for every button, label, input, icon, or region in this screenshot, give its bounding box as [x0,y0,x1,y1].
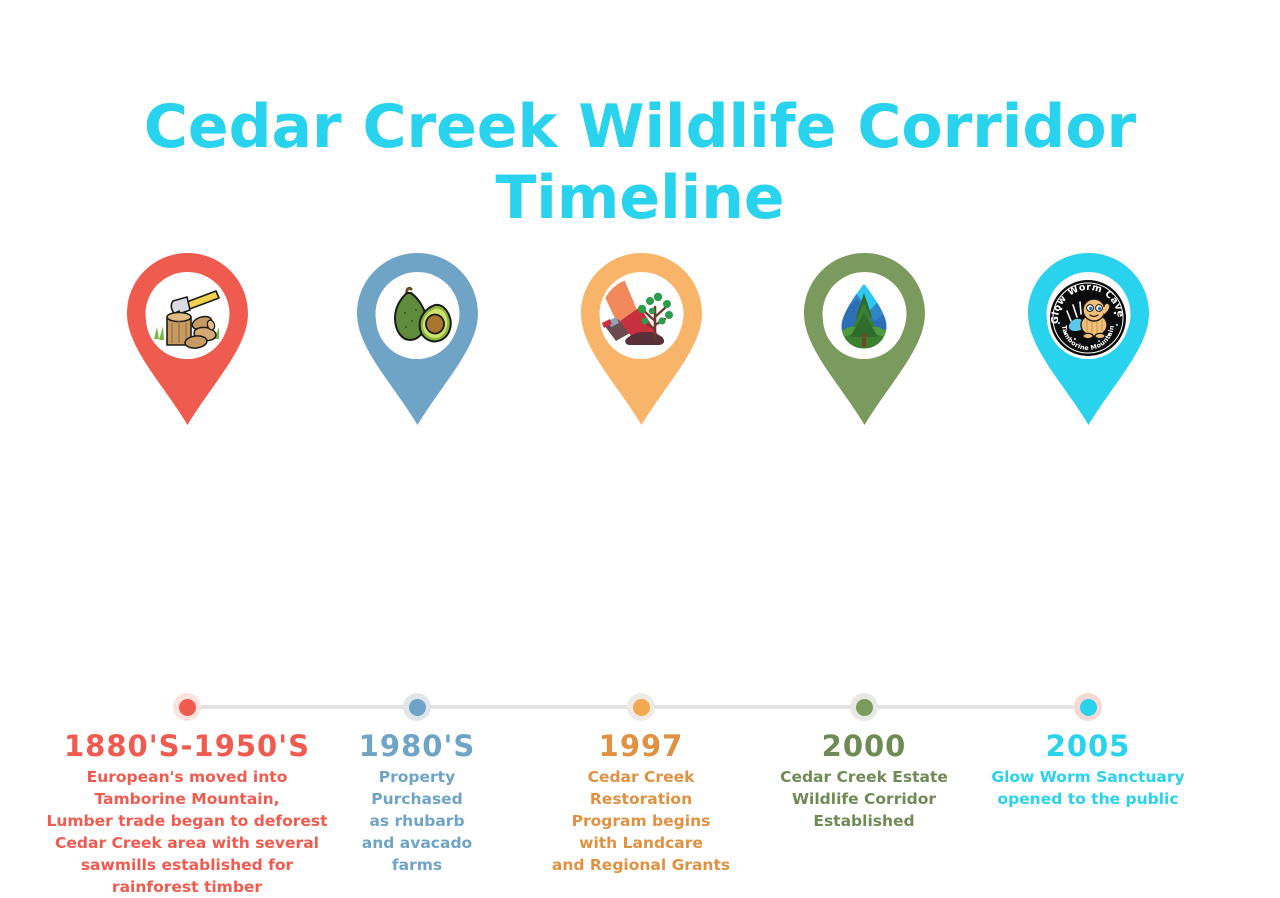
timeline-year-5: 2005 [928,728,1248,764]
timeline-dot-4[interactable] [850,693,878,721]
timeline-stop-1[interactable]: 1880'S-1950'S European's moved into Tamb… [77,250,297,428]
hands-planting-sapling-icon [600,277,682,359]
timeline-dot-5[interactable] [1074,693,1102,721]
glow-worm-caves-logo-icon: Glow Worm Caves Tamborine Mountain [1047,277,1129,359]
timeline-dot-1[interactable] [173,693,201,721]
avocado-icon [376,277,458,359]
axe-in-tree-stump-icon [146,277,228,359]
map-pin-5[interactable]: Glow Worm Caves Tamborine Mountain [1016,250,1161,428]
page-title: Cedar Creek Wildlife Corridor Timeline [0,92,1280,234]
timeline-stop-5[interactable]: Glow Worm Caves Tamborine Mountain 2005 … [978,250,1198,428]
water-drop-forest-icon [823,277,905,359]
map-pin-3[interactable] [569,250,714,428]
timeline-dot-2[interactable] [403,693,431,721]
timeline-stop-4[interactable]: 2000 Cedar Creek Estate Wildlife Corrido… [754,250,974,428]
timeline-dot-3[interactable] [627,693,655,721]
map-pin-4[interactable] [792,250,937,428]
timeline-caption-5: 2005 Glow Worm Sanctuary opened to the p… [928,728,1248,810]
map-pin-2[interactable] [345,250,490,428]
timeline-description-5: Glow Worm Sanctuary opened to the public [928,766,1248,810]
timeline: 1880'S-1950'S European's moved into Tamb… [0,250,1280,710]
timeline-stop-2[interactable]: 1980'S Property Purchased as rhubarb and… [307,250,527,428]
map-pin-1[interactable] [115,250,260,428]
timeline-stop-3[interactable]: 1997 Cedar Creek Restoration Program beg… [531,250,751,428]
